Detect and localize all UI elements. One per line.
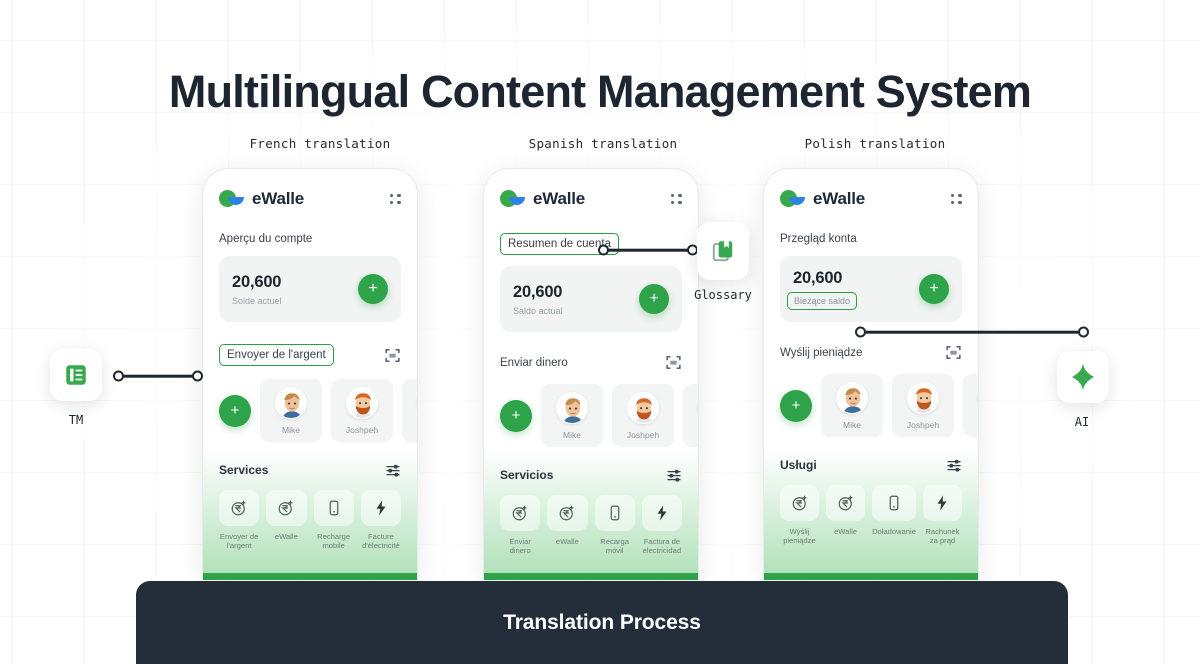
scan-frame-icon[interactable] [384,347,401,364]
service-name: Wyślij pieniądze [780,527,819,546]
contact-card[interactable]: Joshpeh [331,379,393,442]
service-name: eWalle [266,532,306,541]
balance-amount: 20,600 [793,269,857,288]
services-title: Servicios [500,468,553,482]
service-item[interactable]: Recarga móvil [595,495,635,556]
wallet-icon [266,490,306,526]
contacts-row: + Mike Joshpeh Ashl [500,384,682,447]
app-header: eWalle [780,169,962,209]
app-header: eWalle [219,169,401,209]
electricity-bill-icon [361,490,401,526]
services-grid: Enviar dinero eWalle Recarga móvil [500,495,682,556]
add-funds-button[interactable]: + [639,284,669,314]
phone-mockup-polish: eWalle Przegląd konta 20,600 Bieżące sal… [763,168,979,580]
send-money-label: Envoyer de l'argent [219,344,334,366]
contact-card[interactable]: Mike [541,384,603,447]
service-item[interactable]: Doładowanie [872,485,916,546]
avatar [556,392,588,424]
send-money-icon [780,485,819,521]
contact-card[interactable]: Mike [821,374,883,437]
caption-french: French translation [180,136,460,151]
avatar [978,382,979,414]
connector-tm [113,369,203,383]
balance-caption: Solde actuel [232,296,282,306]
service-item[interactable]: Wyślij pieniądze [780,485,819,546]
grid-dots-icon[interactable] [951,194,963,205]
contact-name: Mike [260,425,322,435]
tm-chip[interactable] [50,349,102,401]
grid-dots-icon[interactable] [671,194,683,205]
contact-card[interactable]: Ashl [402,379,418,442]
glossary-book-icon [710,238,736,264]
service-item[interactable]: Envoyer de l'argent [219,490,259,551]
scan-frame-icon[interactable] [665,354,682,371]
connector-ai [855,325,1089,339]
service-item[interactable]: eWalle [266,490,306,551]
contact-card[interactable]: Joshpeh [892,374,954,437]
brand-logo: eWalle [500,189,585,209]
service-name: Facture d'électricité [361,532,401,551]
services-header: Services [219,462,401,478]
balance-card: 20,600 Solde actuel + [219,256,401,322]
contact-card[interactable]: Ashl [963,374,979,437]
balance-caption: Saldo actual [513,306,563,316]
mobile-recharge-icon [872,485,916,521]
contact-name: Ashl [683,430,699,440]
grid-dots-icon[interactable] [390,194,402,205]
translation-memory-icon [63,362,89,388]
service-name: Factura de electricidad [642,537,682,556]
contact-name: Joshpeh [892,420,954,430]
balance-caption: Bieżące saldo [787,292,857,310]
phone-mockup-french: eWalle Aperçu du compte 20,600 Solde act… [202,168,418,580]
ewalle-logo-icon [219,189,245,209]
ai-label: AI [1027,415,1137,429]
services-title: Usługi [780,458,817,472]
wallet-icon [826,485,865,521]
mobile-recharge-icon [314,490,354,526]
add-contact-button[interactable]: + [219,395,251,427]
service-item[interactable]: eWalle [826,485,865,546]
add-contact-button[interactable]: + [780,390,812,422]
add-funds-button[interactable]: + [919,274,949,304]
send-money-row: Wyślij pieniądze [780,344,962,361]
contact-card[interactable]: Ashl [683,384,699,447]
services-grid: Envoyer de l'argent eWalle Recharge mobi… [219,490,401,551]
brand-name: eWalle [813,189,865,209]
send-money-row: Envoyer de l'argent [219,344,401,366]
sliders-icon[interactable] [385,462,401,478]
add-contact-button[interactable]: + [500,400,532,432]
avatar [275,387,307,419]
account-overview-label: Aperçu du compte [219,233,401,245]
send-money-icon [500,495,540,531]
services-header: Servicios [500,467,682,483]
service-name: eWalle [547,537,587,546]
services-header: Usługi [780,457,962,473]
ewalle-logo-icon [500,189,526,209]
tm-label: TM [21,413,131,427]
services-title: Services [219,463,268,477]
service-name: Recharge mobile [314,532,354,551]
scan-frame-icon[interactable] [945,344,962,361]
service-name: eWalle [826,527,865,536]
glossary-chip[interactable] [697,222,749,280]
contact-name: Ashl [402,425,418,435]
balance-card: 20,600 Bieżące saldo + [780,256,962,322]
ewalle-logo-icon [780,189,806,209]
brand-name: eWalle [252,189,304,209]
contact-name: Ashl [963,420,979,430]
services-grid: Wyślij pieniądze eWalle Doładowanie [780,485,962,546]
service-item[interactable]: eWalle [547,495,587,556]
contact-name: Mike [541,430,603,440]
avatar [907,382,939,414]
sliders-icon[interactable] [666,467,682,483]
service-name: Envoyer de l'argent [219,532,259,551]
phone-mockup-spanish: eWalle Resumen de cuenta 20,600 Saldo ac… [483,168,699,580]
contact-name: Joshpeh [331,425,393,435]
service-name: Doładowanie [872,527,916,536]
mobile-recharge-icon [595,495,635,531]
add-funds-button[interactable]: + [358,274,388,304]
caption-spanish: Spanish translation [463,136,743,151]
contacts-row: + Mike Joshpeh Ashl [780,374,962,437]
service-item[interactable]: Facture d'électricité [361,490,401,551]
balance-amount: 20,600 [513,283,563,302]
electricity-bill-icon [642,495,682,531]
caption-polish: Polish translation [735,136,1015,151]
brand-name: eWalle [533,189,585,209]
avatar [698,392,699,424]
send-money-label: Wyślij pieniądze [780,347,862,359]
contact-name: Mike [821,420,883,430]
avatar [417,387,418,419]
service-name: Recarga móvil [595,537,635,556]
electricity-bill-icon [923,485,962,521]
service-item[interactable]: Recharge mobile [314,490,354,551]
ai-chip[interactable] [1057,351,1109,403]
service-item[interactable]: Factura de electricidad [642,495,682,556]
ai-sparkle-icon [1068,362,1098,392]
contact-card[interactable]: Mike [260,379,322,442]
diagram-stage: Multilingual Content Management System F… [0,0,1200,664]
contact-name: Joshpeh [612,430,674,440]
sliders-icon[interactable] [946,457,962,473]
avatar [627,392,659,424]
brand-logo: eWalle [219,189,304,209]
brand-logo: eWalle [780,189,865,209]
balance-card: 20,600 Saldo actual + [500,266,682,332]
translation-process-banner: Translation Process [136,581,1068,664]
avatar [346,387,378,419]
page-title: Multilingual Content Management System [0,66,1200,118]
contacts-row: + Mike Joshpeh Ashl [219,379,401,442]
banner-title: Translation Process [503,611,701,635]
send-money-label: Enviar dinero [500,357,568,369]
app-header: eWalle [500,169,682,209]
wallet-icon [547,495,587,531]
connector-glossary [598,243,698,257]
service-name: Rachunek za prąd [923,527,962,546]
account-overview-label: Przegląd konta [780,233,962,245]
service-item[interactable]: Rachunek za prąd [923,485,962,546]
avatar [836,382,868,414]
service-item[interactable]: Enviar dinero [500,495,540,556]
service-name: Enviar dinero [500,537,540,556]
contact-card[interactable]: Joshpeh [612,384,674,447]
balance-amount: 20,600 [232,273,282,292]
send-money-icon [219,490,259,526]
send-money-row: Enviar dinero [500,354,682,371]
glossary-label: Glossary [668,288,778,302]
